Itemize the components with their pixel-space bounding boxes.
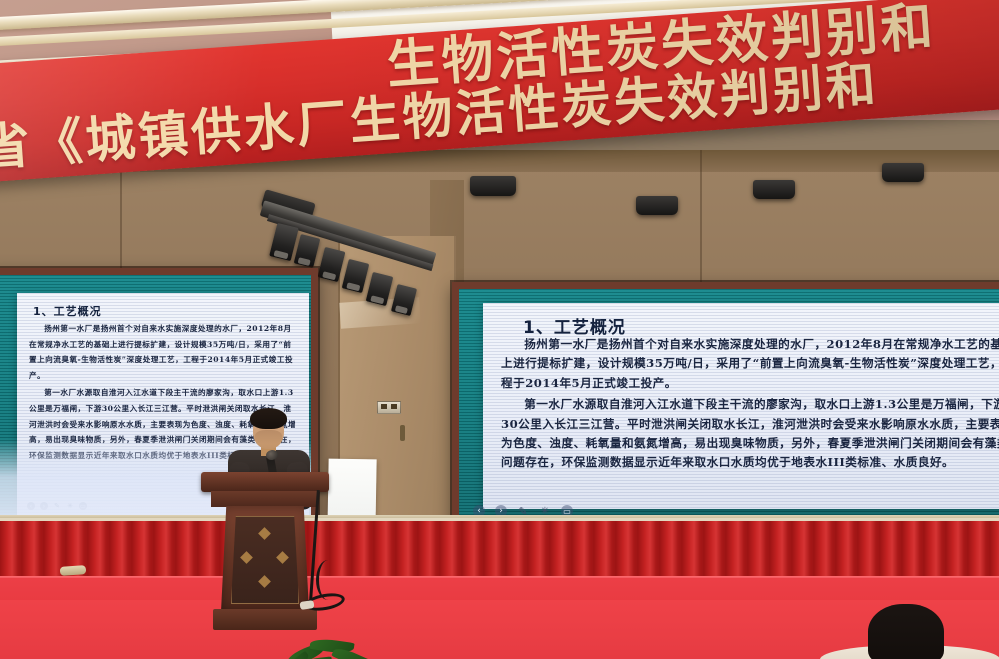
podium-front-inlay xyxy=(231,516,299,604)
ceiling-spotlight xyxy=(753,180,795,199)
previous-slide-icon[interactable]: ‹ xyxy=(27,502,35,510)
stage-floor-object xyxy=(60,565,87,576)
ceiling-spotlight xyxy=(470,176,516,196)
next-slide-icon[interactable]: › xyxy=(40,502,48,510)
podium-top-surface xyxy=(201,472,329,492)
audience-member-head xyxy=(868,604,944,659)
right-slide-surface: 1、工艺概况 扬州第一水厂是扬州首个对自来水实施深度处理的水厂，2012年8月在… xyxy=(483,303,999,509)
right-slide-paragraph-1: 扬州第一水厂是扬州首个对自来水实施深度处理的水厂，2012年8月在常规净水工艺的… xyxy=(501,335,999,393)
left-slide-paragraph-1: 扬州第一水厂是扬州首个对自来水实施深度处理的水厂，2012年8月在常规净水工艺的… xyxy=(29,321,299,383)
door-handle[interactable] xyxy=(400,425,405,441)
presenter-face-shadow xyxy=(255,430,282,444)
right-led-screen[interactable]: 1、工艺概况 扬州第一水厂是扬州首个对自来水实施深度处理的水厂，2012年8月在… xyxy=(452,282,999,530)
foreground-plant xyxy=(276,636,396,659)
pen-annotate-icon[interactable]: ✎ xyxy=(53,502,61,510)
ceiling-spotlight xyxy=(636,196,678,215)
right-slide-paragraph-2: 第一水厂水源取自淮河入江水道下段主干流的廖家沟，取水口上游1.3公里是万福闸，下… xyxy=(501,395,999,473)
left-ppt-toolbar[interactable]: ‹ › ✎ ✳ ▭ xyxy=(27,502,87,510)
left-slide-title: 1、工艺概况 xyxy=(33,303,102,319)
wall-light-switch[interactable] xyxy=(377,401,401,414)
right-slide-body: 扬州第一水厂是扬州首个对自来水实施深度处理的水厂，2012年8月在常规净水工艺的… xyxy=(501,335,999,475)
more-options-icon[interactable]: ▭ xyxy=(79,502,87,510)
podium-neck xyxy=(211,491,319,507)
conference-hall-scene: 生物活性炭失效判别和 省《城镇供水厂生物活性炭失效判别和 1、工艺概况 扬州第一… xyxy=(0,0,999,659)
podium-base xyxy=(213,609,317,630)
ceiling-spotlight xyxy=(882,163,924,182)
pointer-options-icon[interactable]: ✳ xyxy=(66,502,74,510)
presenter-hair xyxy=(250,408,287,429)
